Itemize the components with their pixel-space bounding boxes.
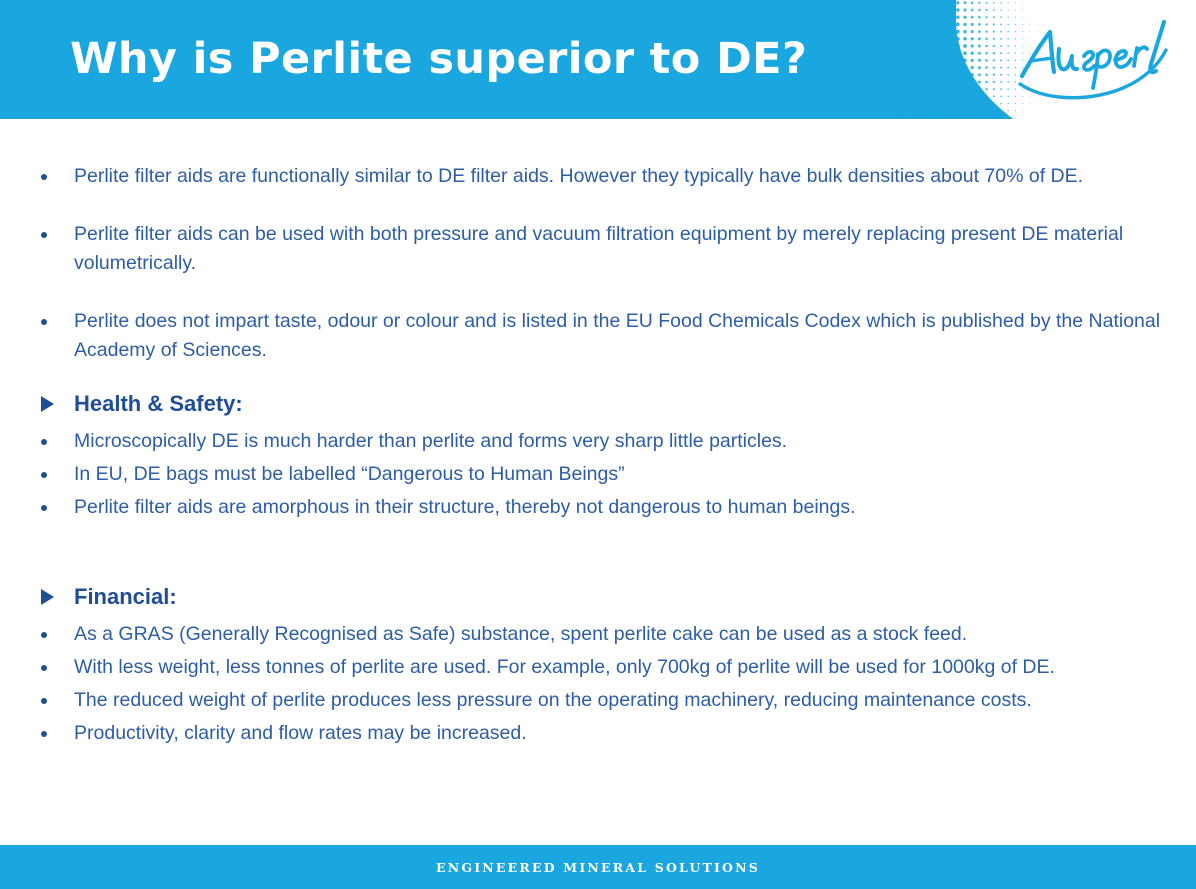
section-health-safety: Health & Safety: Microscopically DE is m… — [0, 389, 1196, 522]
list-item: As a GRAS (Generally Recognised as Safe)… — [0, 620, 1196, 649]
health-safety-bullet-list: Microscopically DE is much harder than p… — [0, 427, 1196, 522]
list-item: In EU, DE bags must be labelled “Dangero… — [0, 460, 1196, 489]
financial-bullet-list: As a GRAS (Generally Recognised as Safe)… — [0, 620, 1196, 748]
list-item: The reduced weight of perlite produces l… — [0, 686, 1196, 715]
list-item: Microscopically DE is much harder than p… — [0, 427, 1196, 456]
section-heading-financial: Financial: — [0, 582, 1196, 612]
slide-footer: ENGINEERED MINERAL SOLUTIONS — [0, 845, 1196, 889]
list-item: Perlite does not impart taste, odour or … — [0, 307, 1196, 365]
triangle-bullet-icon — [41, 396, 54, 412]
list-item: Productivity, clarity and flow rates may… — [0, 719, 1196, 748]
list-item: Perlite filter aids are amorphous in the… — [0, 493, 1196, 522]
section-financial: Financial: As a GRAS (Generally Recognis… — [0, 582, 1196, 748]
triangle-bullet-icon — [41, 589, 54, 605]
ausperl-logo — [1014, 14, 1174, 106]
list-item: With less weight, less tonnes of perlite… — [0, 653, 1196, 682]
slide-body: Perlite filter aids are functionally sim… — [0, 119, 1196, 845]
page-title: Why is Perlite superior to DE? — [70, 34, 807, 84]
section-heading-health-safety: Health & Safety: — [0, 389, 1196, 419]
footer-tagline: ENGINEERED MINERAL SOLUTIONS — [436, 860, 760, 875]
section-heading-label: Health & Safety: — [74, 391, 243, 416]
section-heading-label: Financial: — [74, 584, 177, 609]
list-item: Perlite filter aids can be used with bot… — [0, 220, 1196, 278]
intro-bullet-list: Perlite filter aids are functionally sim… — [0, 162, 1196, 365]
list-item: Perlite filter aids are functionally sim… — [0, 162, 1196, 191]
